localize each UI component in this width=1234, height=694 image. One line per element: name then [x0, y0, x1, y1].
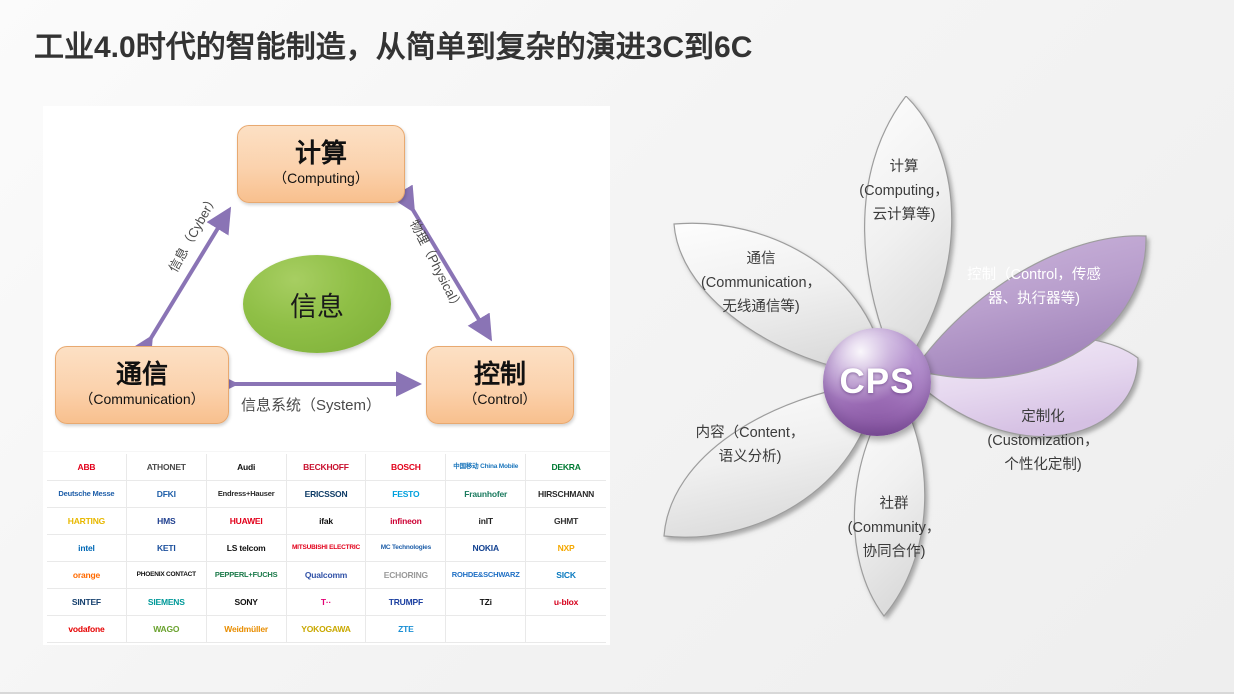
logo-audi: Audi	[207, 454, 287, 481]
logo-trumpf: TRUMPF	[366, 589, 446, 616]
logo-intel: intel	[47, 535, 127, 562]
logo-yokogawa: YOKOGAWA	[287, 616, 367, 643]
logo-ericsson: ERICSSON	[287, 481, 367, 508]
logo-abb: ABB	[47, 454, 127, 481]
logo-cell-empty	[446, 616, 526, 643]
logo-qualcomm: Qualcomm	[287, 562, 367, 589]
logo-hirschmann: HIRSCHMANN	[526, 481, 606, 508]
cps-label: CPS	[840, 362, 915, 402]
logo-deutsche-messe: Deutsche Messe	[47, 481, 127, 508]
cps-triangle-card: 计算 （Computing） 通信 （Communication） 控制 （Co…	[43, 106, 610, 451]
node-communication-en: （Communication）	[79, 389, 204, 410]
cps-center-orb[interactable]: CPS	[823, 328, 931, 436]
logo-nxp: NXP	[526, 535, 606, 562]
logo-u-blox: u-blox	[526, 589, 606, 616]
logo-infineon: infineon	[366, 508, 446, 535]
logo-sick: SICK	[526, 562, 606, 589]
logo-wago: WAGO	[127, 616, 207, 643]
node-control-en: （Control）	[463, 389, 536, 410]
logo-zte: ZTE	[366, 616, 446, 643]
logo-athonet: ATHONET	[127, 454, 207, 481]
logo-keti: KETI	[127, 535, 207, 562]
logo-bosch: BOSCH	[366, 454, 446, 481]
node-computing[interactable]: 计算 （Computing）	[237, 125, 405, 203]
logo-ifak: ifak	[287, 508, 367, 535]
logo-phoenix-contact: PHOENIX CONTACT	[127, 562, 207, 589]
logo-festo: FESTO	[366, 481, 446, 508]
logo-pepperl-fuchs: PEPPERL+FUCHS	[207, 562, 287, 589]
node-computing-zh: 计算	[295, 139, 347, 168]
logo-vodafone: vodafone	[47, 616, 127, 643]
logo-weidm-ller: Weidmüller	[207, 616, 287, 643]
logo-nokia: NOKIA	[446, 535, 526, 562]
logo-echoring: ECHORING	[366, 562, 446, 589]
logo-dekra: DEKRA	[526, 454, 606, 481]
logo-huawei: HUAWEI	[207, 508, 287, 535]
node-communication[interactable]: 通信 （Communication）	[55, 346, 229, 424]
cps-flower-diagram: 计算 (Computing， 云计算等) 通信 (Communication， …	[618, 96, 1234, 656]
node-control[interactable]: 控制 （Control）	[426, 346, 574, 424]
logo-beckhoff: BECKHOFF	[287, 454, 367, 481]
logo-siemens: SIEMENS	[127, 589, 207, 616]
logo-ghmt: GHMT	[526, 508, 606, 535]
logo-dfki: DFKI	[127, 481, 207, 508]
logo-init: inIT	[446, 508, 526, 535]
logo-orange: orange	[47, 562, 127, 589]
logo-rohde-schwarz: ROHDE&SCHWARZ	[446, 562, 526, 589]
node-communication-zh: 通信	[116, 360, 168, 389]
logo-harting: HARTING	[47, 508, 127, 535]
node-information[interactable]: 信息	[243, 255, 391, 353]
logo-cell-empty	[526, 616, 606, 643]
logo-sony: SONY	[207, 589, 287, 616]
logo-fraunhofer: Fraunhofer	[446, 481, 526, 508]
logo-hms: HMS	[127, 508, 207, 535]
logo-mc-technologies: MC Technologies	[366, 535, 446, 562]
logo-tzi: TZi	[446, 589, 526, 616]
page-title: 工业4.0时代的智能制造，从简单到复杂的演进3C到6C	[34, 22, 752, 66]
edge-label-system: 信息系统（System）	[241, 394, 381, 415]
node-control-zh: 控制	[474, 360, 526, 389]
logo-endress-hauser: Endress+Hauser	[207, 481, 287, 508]
logo-mitsubishi-electric: MITSUBISHI ELECTRIC	[287, 535, 367, 562]
slide-canvas: 工业4.0时代的智能制造，从简单到复杂的演进3C到6C 计算 （Computin…	[0, 0, 1234, 694]
logo-sintef: SINTEF	[47, 589, 127, 616]
logo-ls-telcom: LS telcom	[207, 535, 287, 562]
node-information-label: 信息	[290, 285, 344, 324]
logo-中国移动-china-mobile: 中国移动 China Mobile	[446, 454, 526, 481]
partner-logo-wall: ABBATHONETAudiBECKHOFFBOSCH中国移动 China Mo…	[43, 452, 610, 645]
logo-t: T··	[287, 589, 367, 616]
node-computing-en: （Computing）	[273, 168, 369, 189]
